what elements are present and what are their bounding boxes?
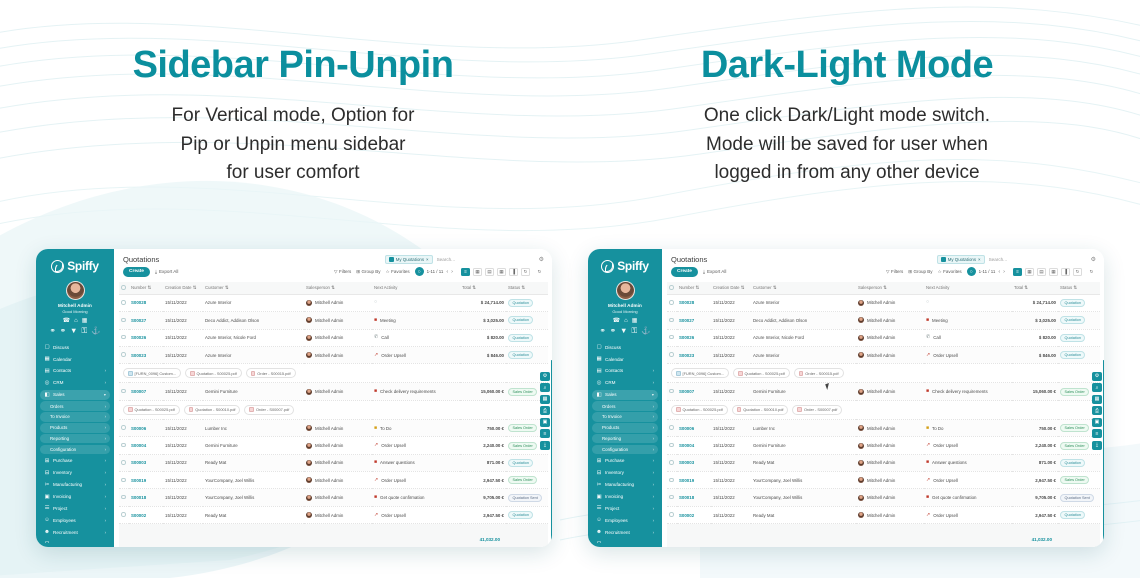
print-rail-icon[interactable]: ⎙ (1092, 406, 1102, 415)
table-container[interactable]: Number ⇅Creation Date ⇅Customer ⇅Salespe… (662, 282, 1104, 547)
facet-label: My Quotations (396, 257, 424, 262)
sidebar-item-calendar[interactable]: ▦Calendar (40, 354, 110, 364)
sidebar-item-orders[interactable]: Orders› (40, 401, 110, 410)
sidebar-item-reporting[interactable]: Reporting› (592, 434, 658, 443)
sidebar-item-recruitment[interactable]: ☻Recruitment› (592, 527, 658, 537)
export-rail-icon[interactable]: ⤓ (1092, 441, 1102, 450)
row-checkbox[interactable] (669, 495, 674, 500)
sidebar-item-employees[interactable]: ☺Employees› (592, 515, 658, 525)
sidebar-item-employees[interactable]: ☺Employees› (40, 515, 110, 525)
sidebar-item-contacts[interactable]: ▤Contacts› (592, 366, 658, 376)
crm-icon: ◎ (596, 380, 602, 386)
cell-creation-date: 15/11/2022 (711, 454, 751, 471)
upsell-icon: ↗ (374, 353, 378, 358)
link-alt-icon[interactable]: ⚭ (60, 327, 66, 335)
pin-icon[interactable]: ⚓ (641, 327, 650, 335)
activity-view-icon[interactable]: ↻ (521, 268, 530, 276)
sidebar-item-products[interactable]: Products› (40, 423, 110, 432)
chevron-right-icon: › (105, 404, 106, 409)
attachment-chip[interactable]: Quotation - S00025.pdf (733, 368, 790, 378)
pager-next-icon[interactable]: › (1003, 269, 1005, 275)
grid-icon[interactable]: ▦ (82, 318, 88, 324)
cell-next-activity: ↗Order Upsell (372, 506, 460, 523)
home-icon[interactable]: ⌂ (74, 318, 78, 324)
cell-status: Quotation (1058, 346, 1100, 363)
star-icon: ☆ (386, 269, 390, 275)
cell-salesperson: Mitchell Admin (856, 489, 924, 506)
graph-view-icon[interactable]: ▐ (1061, 268, 1070, 276)
table-row[interactable]: S0002615/11/2022Azure Interior, Nicole F… (119, 329, 548, 346)
cell-total: 750.00 € (1012, 419, 1058, 436)
sidebar-item-label: Apps (53, 542, 102, 543)
table-row[interactable]: S0000315/11/2022Ready MatMitchell Admin■… (119, 454, 548, 471)
recruitment-icon: ☻ (44, 529, 50, 535)
breadcrumb[interactable]: Quotations (123, 255, 159, 264)
sidebar-item-to-invoice[interactable]: To Invoice› (592, 412, 658, 421)
delivery-icon: ■ (926, 389, 929, 394)
filter-icon[interactable]: ▼ (620, 327, 627, 335)
sidebar-item-label: Manufacturing (605, 482, 650, 487)
table-row[interactable]: S0001815/11/2022YourCompany, Joel Willis… (667, 489, 1100, 506)
image-icon (676, 371, 681, 376)
table-row[interactable]: S0000715/11/2022Gemini FurnitureMitchell… (119, 383, 548, 400)
user-block[interactable]: Mitchell AdminGood Morning (40, 281, 110, 314)
list-view-icon[interactable]: ≡ (461, 268, 470, 276)
sidebar-item-discuss[interactable]: ▢Discuss (592, 342, 658, 352)
pager-badge-icon: ○ (967, 267, 976, 276)
vertical-scrollbar[interactable] (1103, 360, 1105, 543)
sidebar-item-orders[interactable]: Orders› (592, 401, 658, 410)
header-select[interactable] (667, 282, 677, 295)
attachment-chip[interactable]: Quotation - S00010.pdf (732, 405, 789, 415)
cell-number: S00006 (129, 419, 163, 436)
sidebar-item-recruitment[interactable]: ☻Recruitment› (40, 527, 110, 537)
gear-icon[interactable]: ⚙ (539, 256, 544, 263)
table-row[interactable]: S0000415/11/2022Gemini FurnitureMitchell… (119, 437, 548, 454)
kanban-view-icon[interactable]: ▦ (1025, 268, 1034, 276)
row-checkbox[interactable] (669, 389, 674, 394)
table-container[interactable]: Number ⇅Creation Date ⇅Customer ⇅Salespe… (114, 282, 552, 547)
attachment-chip[interactable]: [FURN_0096] Custom... (671, 368, 729, 378)
search-input[interactable]: Search... (989, 257, 1081, 262)
attachment-row: [FURN_0096] Custom...Quotation - S00025.… (119, 364, 548, 383)
sidebar-item-label: Recruitment (605, 530, 650, 535)
print-rail-icon[interactable]: ⎙ (540, 406, 550, 415)
row-select-cell[interactable] (119, 383, 129, 400)
activity-view-icon[interactable]: ↻ (1073, 268, 1082, 276)
settings-rail-icon[interactable]: ⚙ (540, 372, 550, 381)
save-rail-icon[interactable]: ▣ (1092, 418, 1102, 427)
sidebar-item-crm[interactable]: ◎CRM› (40, 378, 110, 388)
sidebar-item-purchase[interactable]: ⊞Purchase› (40, 456, 110, 466)
row-select-cell[interactable] (119, 294, 129, 311)
salesperson-avatar (858, 300, 864, 306)
refresh-icon[interactable]: ↻ (1087, 268, 1096, 276)
filter-icon: ▽ (334, 269, 337, 275)
cell-status: Quotation Sent (1058, 489, 1100, 506)
header-total[interactable]: Total ⇅ (460, 282, 506, 295)
attachment-chip[interactable]: Order - S00007.pdf (792, 405, 842, 415)
attachment-chip[interactable]: Quotation - S00025.pdf (185, 368, 242, 378)
invoicing-icon: ▣ (596, 494, 602, 500)
chevron-right-icon: › (105, 482, 106, 487)
employees-icon: ☺ (44, 517, 50, 523)
table-row[interactable]: S0000615/11/2022Lumber IncMitchell Admin… (119, 419, 548, 436)
row-checkbox[interactable] (121, 335, 126, 340)
row-select-cell[interactable] (119, 312, 129, 329)
cell-status: Quotation (1058, 294, 1100, 311)
attachment-chip[interactable]: Order - S00015.pdf (794, 368, 844, 378)
export-all-button[interactable]: ⤓Export All (703, 269, 726, 274)
row-select-cell[interactable] (667, 346, 677, 363)
header-number[interactable]: Number ⇅ (129, 282, 163, 295)
sidebar-item-reporting[interactable]: Reporting› (40, 434, 110, 443)
row-checkbox[interactable] (121, 495, 126, 500)
panel-title: Dark-Light Mode (612, 44, 1082, 88)
cell-salesperson: Mitchell Admin (856, 454, 924, 471)
row-checkbox[interactable] (669, 352, 674, 357)
search-rail-icon[interactable]: ⌕ (540, 383, 550, 392)
chevron-right-icon: › (653, 506, 654, 511)
cell-salesperson: Mitchell Admin (304, 472, 372, 489)
table-row[interactable]: S0000215/11/2022Ready MatMitchell Admin↗… (119, 506, 548, 523)
row-checkbox[interactable] (669, 512, 674, 517)
close-icon[interactable]: × (426, 257, 429, 262)
row-select-cell[interactable] (119, 346, 129, 363)
sidebar-item-label: Invoicing (605, 494, 650, 499)
cell-next-activity: ■Check delivery requirements (924, 383, 1012, 400)
home-icon[interactable]: ⌂ (624, 318, 628, 324)
table-row[interactable]: S0002815/11/2022Azure InteriorMitchell A… (119, 294, 548, 311)
row-checkbox[interactable] (669, 318, 674, 323)
table-row[interactable]: S0000215/11/2022Ready MatMitchell Admin↗… (667, 506, 1100, 523)
cell-number: S00007 (677, 383, 711, 400)
cell-total: 9,705.00 € (1012, 489, 1058, 506)
header-status[interactable]: Status ⇅ (1058, 282, 1100, 295)
table-row[interactable]: S0002815/11/2022Azure InteriorMitchell A… (667, 294, 1100, 311)
header-number[interactable]: Number ⇅ (677, 282, 711, 295)
pdf-icon (676, 407, 681, 412)
row-select-cell[interactable] (667, 506, 677, 523)
action-toolbar: Create⤓Export All▽Filters⊞Group By☆Favor… (114, 266, 552, 282)
row-checkbox[interactable] (121, 389, 126, 394)
gear-icon[interactable]: ⚙ (1091, 256, 1096, 263)
cell-number: S00026 (129, 329, 163, 346)
graph-view-icon[interactable]: ▐ (509, 268, 518, 276)
cell-number: S00007 (129, 383, 163, 400)
toolbar-right: ▽Filters⊞Group By☆Favorites○1-11 / 11‹›≡… (334, 267, 544, 276)
grid-rail-icon[interactable]: ▦ (1092, 395, 1102, 404)
cell-number: S00026 (677, 329, 711, 346)
search-facet[interactable]: My Quotations× (385, 255, 433, 264)
filter-icon[interactable]: ▼ (70, 327, 77, 335)
group-by-button[interactable]: ⊞Group By (356, 269, 380, 275)
sidebar-item-purchase[interactable]: ⊞Purchase› (592, 456, 658, 466)
row-select-cell[interactable] (119, 419, 129, 436)
cell-salesperson: Mitchell Admin (304, 437, 372, 454)
table-row[interactable]: S0001915/11/2022YourCompany, Joel Willis… (667, 472, 1100, 489)
row-checkbox[interactable] (669, 300, 674, 305)
list-rail-icon[interactable]: ≡ (540, 429, 550, 438)
cell-salesperson: Mitchell Admin (856, 294, 924, 311)
row-checkbox[interactable] (121, 460, 126, 465)
cell-status: Quotation (1058, 454, 1100, 471)
table-row[interactable]: S0002315/11/2022Azure InteriorMitchell A… (119, 346, 548, 363)
sidebar-item-label: Project (53, 506, 102, 511)
pdf-icon (799, 371, 804, 376)
pager-range: 1-11 / 11 (979, 269, 996, 274)
header-creation-date[interactable]: Creation Date ⇅ (163, 282, 203, 295)
table-row[interactable]: S0000315/11/2022Ready MatMitchell Admin■… (667, 454, 1100, 471)
vertical-scrollbar[interactable] (551, 360, 553, 543)
salesperson-avatar (858, 477, 864, 483)
row-select-cell[interactable] (119, 437, 129, 454)
avatar[interactable] (616, 281, 635, 300)
row-select-cell[interactable] (667, 489, 677, 506)
save-rail-icon[interactable]: ▣ (540, 418, 550, 427)
table-row[interactable]: S0002615/11/2022Azure Interior, Nicole F… (667, 329, 1100, 346)
row-select-cell[interactable] (119, 454, 129, 471)
cell-next-activity: ■Get quote confirmation (372, 489, 460, 506)
sidebar-item-apps[interactable]: ⊡Apps› (592, 539, 658, 543)
export-rail-icon[interactable]: ⤓ (540, 441, 550, 450)
attachment-chip[interactable]: Order - S00007.pdf (244, 405, 294, 415)
cell-number: S00023 (129, 346, 163, 363)
sidebar-item-label: Employees (605, 518, 650, 523)
export-all-button[interactable]: ⤓Export All (155, 269, 178, 274)
pager-next-icon[interactable]: › (451, 269, 453, 275)
close-icon[interactable]: × (978, 257, 981, 262)
user-block[interactable]: Mitchell AdminGood Morning (592, 281, 658, 314)
sidebar-item-configuration[interactable]: Configuration› (40, 445, 110, 454)
row-checkbox[interactable] (121, 478, 126, 483)
search-rail-icon[interactable]: ⌕ (1092, 383, 1102, 392)
todo-icon: ■ (926, 426, 929, 431)
row-checkbox[interactable] (121, 318, 126, 323)
cell-next-activity: ✆Call (372, 329, 460, 346)
header-creation-date[interactable]: Creation Date ⇅ (711, 282, 751, 295)
row-checkbox[interactable] (121, 425, 126, 430)
row-checkbox[interactable] (121, 300, 126, 305)
row-select-cell[interactable] (119, 506, 129, 523)
create-button[interactable]: Create (671, 267, 698, 277)
table-row[interactable]: S0002715/11/2022Deco Addict, Addison Ols… (119, 312, 548, 329)
panel-title: Sidebar Pin-Unpin (58, 44, 528, 88)
grid-rail-icon[interactable]: ▦ (540, 395, 550, 404)
sidebar-item-products[interactable]: Products› (592, 423, 658, 432)
list-rail-icon[interactable]: ≡ (1092, 429, 1102, 438)
header-customer[interactable]: Customer ⇅ (203, 282, 304, 295)
sidebar-item-label: Project (605, 506, 650, 511)
salesperson-avatar (306, 317, 312, 323)
cell-status: Quotation (506, 312, 548, 329)
call-icon: ✆ (926, 335, 930, 340)
filters-button[interactable]: ▽Filters (886, 269, 903, 275)
cell-next-activity: ↗Order Upsell (372, 472, 460, 489)
attachment-chip[interactable]: [FURN_0096] Custom... (123, 368, 181, 378)
sidebar-item-label: Orders (50, 404, 102, 409)
search-input[interactable]: Search... (437, 257, 529, 262)
search-area: My Quotations×Search...⚙ (385, 255, 544, 264)
settings-rail-icon[interactable]: ⚙ (1092, 372, 1102, 381)
header-customer[interactable]: Customer ⇅ (751, 282, 856, 295)
sidebar-item-label: Invoicing (53, 494, 102, 499)
phone-icon[interactable]: ☎ (63, 318, 70, 324)
pager-prev-icon[interactable]: ‹ (446, 269, 448, 275)
row-select-cell[interactable] (667, 472, 677, 489)
row-select-cell[interactable] (667, 294, 677, 311)
pivot-view-icon[interactable]: ▦ (1049, 268, 1058, 276)
sidebar-item-inventory[interactable]: ⊟Inventory› (40, 468, 110, 478)
cell-number: S00018 (677, 489, 711, 506)
upsell-icon: ↗ (926, 353, 930, 358)
row-select-cell[interactable] (119, 472, 129, 489)
quick-icons-row-1: ☎⌂▦ (40, 318, 110, 324)
favorites-button[interactable]: ☆Favorites (938, 269, 962, 275)
manufacturing-icon: ✂ (44, 482, 50, 488)
sidebar-item-sales[interactable]: ◧Sales▾ (592, 390, 658, 400)
sidebar-item-manufacturing[interactable]: ✂Manufacturing› (592, 480, 658, 490)
sidebar-item-project[interactable]: ☰Project› (40, 503, 110, 513)
cell-number: S00004 (677, 437, 711, 454)
chevron-right-icon: › (105, 494, 106, 499)
table-row[interactable]: S0000615/11/2022Lumber IncMitchell Admin… (667, 419, 1100, 436)
calendar-view-icon[interactable]: ▤ (485, 268, 494, 276)
link-icon[interactable]: ⚭ (599, 327, 605, 335)
row-checkbox[interactable] (121, 512, 126, 517)
chevron-right-icon: › (653, 482, 654, 487)
pin-icon[interactable]: ⚓ (91, 327, 100, 335)
attachment-chip[interactable]: Quotation - S00025.pdf (123, 405, 180, 415)
header-select[interactable] (119, 282, 129, 295)
attachment-chip[interactable]: Order - S00015.pdf (246, 368, 296, 378)
panel-subtitle-line: Mode will be saved for user when (612, 131, 1082, 160)
salesperson-avatar (858, 335, 864, 341)
view-switcher: ≡▦▤▦▐↻ (461, 268, 530, 276)
header-next-activity[interactable]: Next Activity (924, 282, 1012, 295)
table-row[interactable]: S0002315/11/2022Azure InteriorMitchell A… (667, 346, 1100, 363)
header-salesperson[interactable]: Salesperson ⇅ (856, 282, 924, 295)
table-row[interactable]: S0000415/11/2022Gemini FurnitureMitchell… (667, 437, 1100, 454)
cell-customer: Azure Interior (203, 294, 304, 311)
row-select-cell[interactable] (667, 437, 677, 454)
cell-creation-date: 15/11/2022 (711, 489, 751, 506)
table-row[interactable]: S0001815/11/2022YourCompany, Joel Willis… (119, 489, 548, 506)
lock-icon[interactable]: ⚿ (81, 327, 87, 335)
row-checkbox[interactable] (669, 443, 674, 448)
refresh-icon[interactable]: ↻ (535, 268, 544, 276)
row-checkbox[interactable] (669, 478, 674, 483)
sidebar-item-invoicing[interactable]: ▣Invoicing› (40, 491, 110, 501)
pivot-view-icon[interactable]: ▦ (497, 268, 506, 276)
row-select-cell[interactable] (119, 329, 129, 346)
grid-icon[interactable]: ▦ (632, 318, 638, 324)
attachment-label: Quotation - S00010.pdf (195, 407, 235, 412)
cell-customer: Ready Mat (751, 454, 856, 471)
search-facet[interactable]: My Quotations× (937, 255, 985, 264)
row-select-cell[interactable] (667, 383, 677, 400)
row-checkbox[interactable] (121, 443, 126, 448)
upsell-icon: ↗ (926, 513, 930, 518)
sidebar-item-label: To Invoice (602, 414, 650, 419)
table-row[interactable]: S0002715/11/2022Deco Addict, Addison Ols… (667, 312, 1100, 329)
cell-total: 750.00 € (460, 419, 506, 436)
employees-icon: ☺ (596, 517, 602, 523)
header-status[interactable]: Status ⇅ (506, 282, 548, 295)
row-select-cell[interactable] (667, 454, 677, 471)
create-button[interactable]: Create (123, 267, 150, 277)
quick-icons-row-1: ☎⌂▦ (592, 318, 658, 324)
group-by-button[interactable]: ⊞Group By (908, 269, 932, 275)
attachment-chip[interactable]: Quotation - S00010.pdf (184, 405, 241, 415)
table-row[interactable]: S0000715/11/2022Gemini FurnitureMitchell… (667, 383, 1100, 400)
cell-status: Quotation (1058, 506, 1100, 523)
header-total[interactable]: Total ⇅ (1012, 282, 1058, 295)
salesperson-avatar (306, 460, 312, 466)
header-next-activity[interactable]: Next Activity (372, 282, 460, 295)
table-row[interactable]: S0001915/11/2022YourCompany, Joel Willis… (119, 472, 548, 489)
avatar[interactable] (66, 281, 85, 300)
cell-creation-date: 15/11/2022 (163, 346, 203, 363)
row-checkbox[interactable] (669, 335, 674, 340)
link-alt-icon[interactable]: ⚭ (610, 327, 616, 335)
status-badge: Sales Order (508, 442, 537, 450)
cell-customer: Ready Mat (751, 506, 856, 523)
favorites-button[interactable]: ☆Favorites (386, 269, 410, 275)
cell-creation-date: 15/11/2022 (711, 312, 751, 329)
sidebar-item-contacts[interactable]: ▤Contacts› (40, 366, 110, 376)
sidebar-item-configuration[interactable]: Configuration› (592, 445, 658, 454)
sidebar-item-to-invoice[interactable]: To Invoice› (40, 412, 110, 421)
sidebar-item-manufacturing[interactable]: ✂Manufacturing› (40, 480, 110, 490)
link-icon[interactable]: ⚭ (49, 327, 55, 335)
cell-customer: Lumber Inc (203, 419, 304, 436)
sidebar-item-crm[interactable]: ◎CRM› (592, 378, 658, 388)
row-checkbox[interactable] (669, 460, 674, 465)
header-salesperson[interactable]: Salesperson ⇅ (304, 282, 372, 295)
pager-prev-icon[interactable]: ‹ (998, 269, 1000, 275)
filters-button[interactable]: ▽Filters (334, 269, 351, 275)
sidebar-item-inventory[interactable]: ⊟Inventory› (592, 468, 658, 478)
row-select-cell[interactable] (119, 489, 129, 506)
list-view-icon[interactable]: ≡ (1013, 268, 1022, 276)
row-checkbox[interactable] (669, 425, 674, 430)
row-select-cell[interactable] (667, 312, 677, 329)
cell-next-activity: ■Check delivery requirements (372, 383, 460, 400)
sidebar-item-sales[interactable]: ◧Sales▾ (40, 390, 110, 400)
chevron-right-icon: › (105, 368, 106, 373)
calendar-view-icon[interactable]: ▤ (1037, 268, 1046, 276)
sidebar-item-discuss[interactable]: ▢Discuss (40, 342, 110, 352)
phone-icon[interactable]: ☎ (613, 318, 620, 324)
sidebar-item-invoicing[interactable]: ▣Invoicing› (592, 491, 658, 501)
salesperson-avatar (858, 352, 864, 358)
breadcrumb[interactable]: Quotations (671, 255, 707, 264)
kanban-view-icon[interactable]: ▦ (473, 268, 482, 276)
sidebar-item-apps[interactable]: ⊡Apps› (40, 539, 110, 543)
lock-icon[interactable]: ⚿ (631, 327, 637, 335)
sidebar-item-calendar[interactable]: ▦Calendar (592, 354, 658, 364)
cell-salesperson: Mitchell Admin (304, 312, 372, 329)
row-select-cell[interactable] (667, 419, 677, 436)
attachment-row: [FURN_0096] Custom...Quotation - S00025.… (667, 364, 1100, 383)
row-checkbox[interactable] (121, 352, 126, 357)
attachment-chip[interactable]: Quotation - S00025.pdf (671, 405, 728, 415)
row-select-cell[interactable] (667, 329, 677, 346)
sidebar-item-project[interactable]: ☰Project› (592, 503, 658, 513)
brand-name: Spiffy (617, 259, 649, 273)
action-rail: ⚙⌕▦⎙▣≡⤓ (540, 372, 550, 450)
